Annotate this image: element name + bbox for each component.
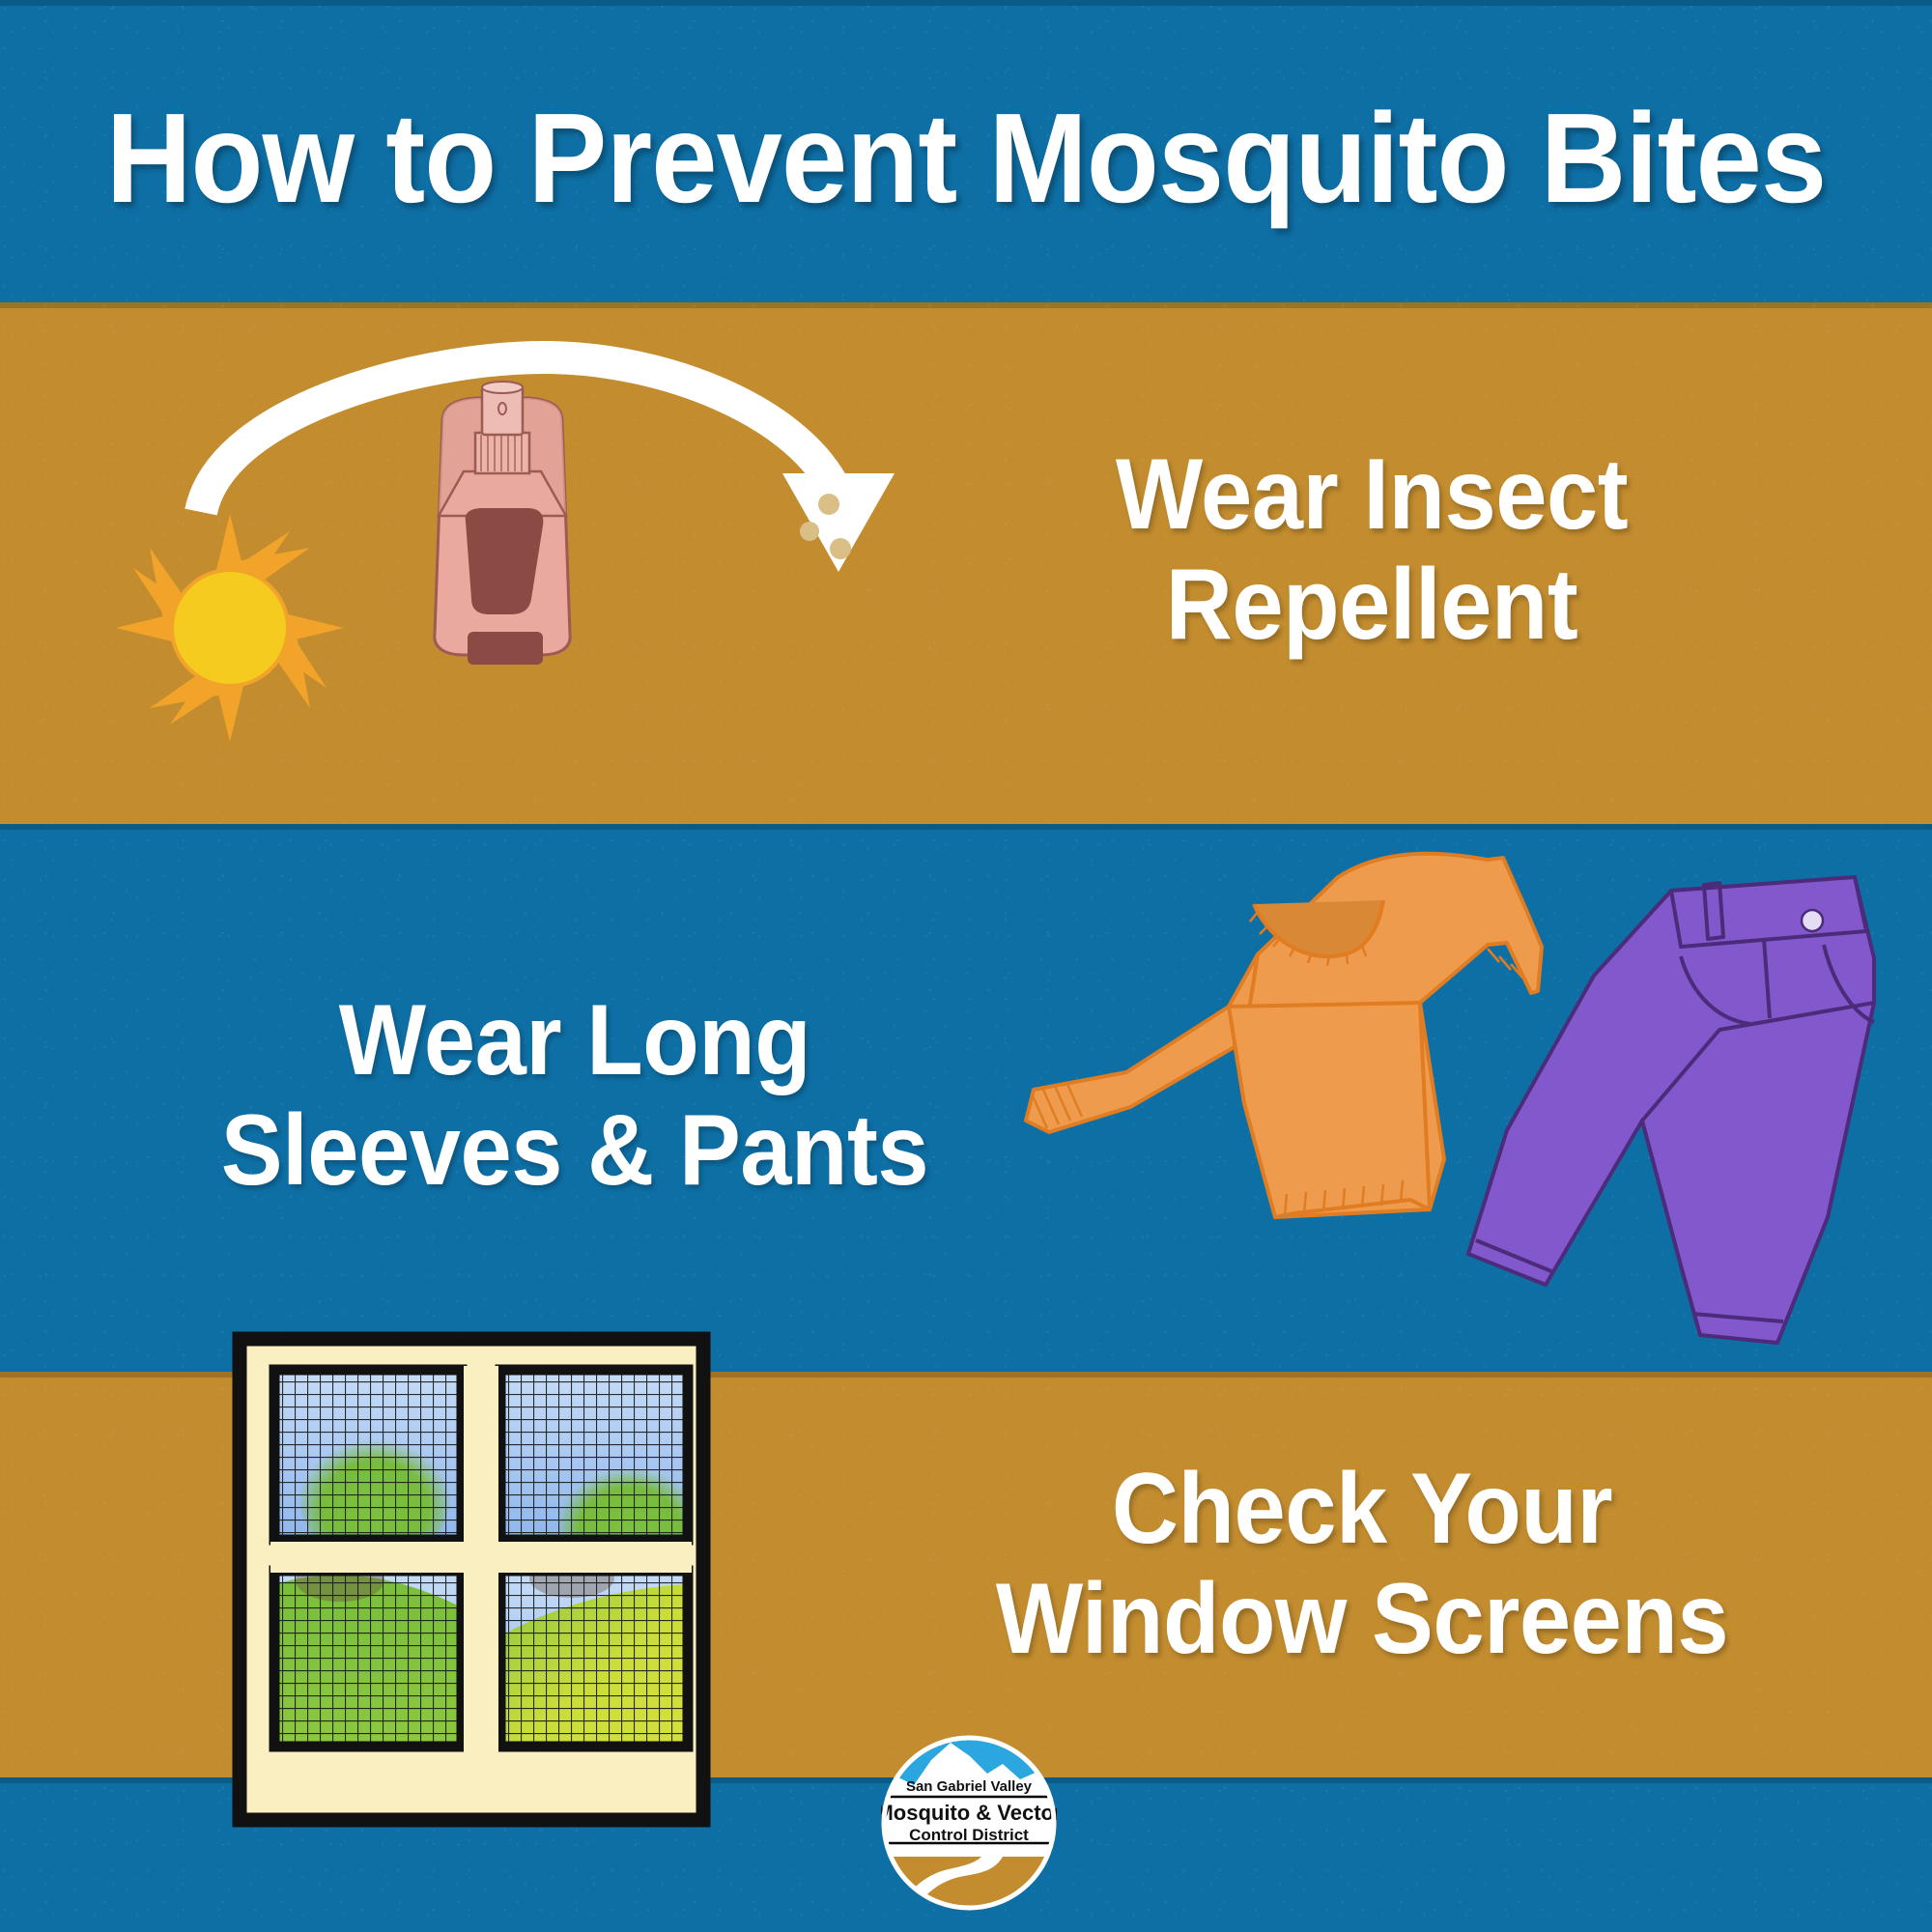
window-pane-lower-left bbox=[274, 1559, 462, 1747]
caption-wear-long-sleeves-and-pants: Wear Long Sleeves & Pants bbox=[214, 985, 934, 1207]
window-screen-illustration bbox=[232, 1331, 734, 1901]
caption-line-2: Repellent bbox=[1034, 550, 1709, 660]
caption-line-1: Wear Long bbox=[214, 985, 934, 1095]
sun-icon bbox=[116, 514, 344, 742]
window-pane-upper-left bbox=[274, 1370, 462, 1563]
caption-check-your-window-screens: Check Your Window Screens bbox=[962, 1454, 1762, 1675]
poster-root: How to Prevent Mosquito Bites bbox=[0, 0, 1932, 1932]
logo-line-3: Control District bbox=[909, 1826, 1029, 1844]
repellent-illustration bbox=[116, 319, 966, 811]
page-title: How to Prevent Mosquito Bites bbox=[68, 92, 1864, 224]
clothing-illustration bbox=[1005, 831, 1932, 1372]
caption-line-2: Sleeves & Pants bbox=[214, 1095, 934, 1206]
spray-bottle-icon bbox=[435, 382, 570, 665]
caption-line-2: Window Screens bbox=[962, 1564, 1762, 1674]
caption-wear-insect-repellent: Wear Insect Repellent bbox=[1034, 440, 1709, 661]
caption-line-1: Check Your bbox=[962, 1454, 1762, 1564]
long-sleeve-shirt-icon bbox=[1026, 854, 1542, 1217]
window-pane-lower-right bbox=[500, 1559, 688, 1747]
logo-line-2: Mosquito & Vector bbox=[881, 1801, 1057, 1825]
organization-logo[interactable]: San Gabriel Valley Mosquito & Vector Con… bbox=[881, 1735, 1057, 1911]
logo-line-1: San Gabriel Valley bbox=[906, 1778, 1033, 1795]
caption-line-1: Wear Insect bbox=[1034, 440, 1709, 550]
